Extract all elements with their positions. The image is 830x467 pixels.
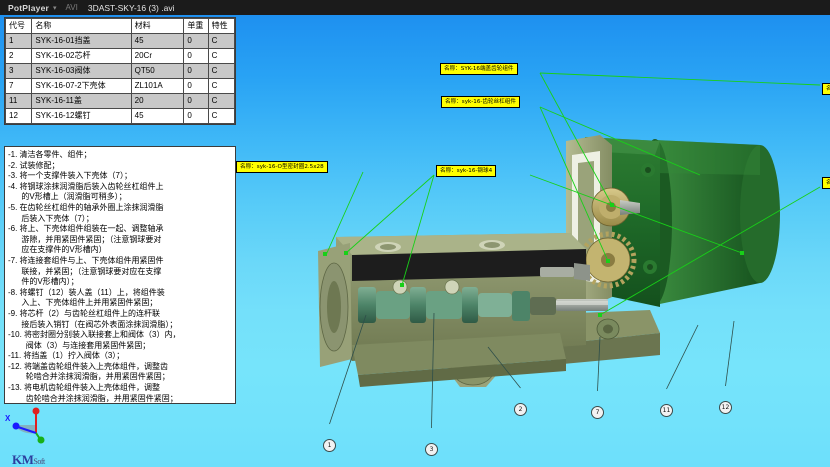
instruction-line: -4. 将钢球涂抹润滑脂后装入齿轮丝杠组件上 <box>8 182 231 193</box>
leader-arrow-heads <box>323 203 744 317</box>
parts-table: 代号 名称 材料 单重 特性 1 SYK-16-01挡盖 45 0 C <box>4 17 236 125</box>
assembly-instructions: -1. 清洁各零件、组件；-2. 试装修配；-3. 将一个支撑件装入下壳体（7）… <box>4 146 236 404</box>
col-header-code: 代号 <box>6 19 32 34</box>
cell-name: SYK-16-11盖 <box>32 94 131 109</box>
axis-label-x: X <box>5 414 10 423</box>
cell-code: 12 <box>6 109 32 124</box>
instruction-line: -7. 将连接套组件与上、下壳体组件用紧固件 <box>8 256 231 267</box>
col-header-name: 名称 <box>32 19 131 34</box>
balloon-3: 3 <box>425 443 438 456</box>
cell-char: C <box>208 34 234 49</box>
instruction-line: 的V形槽上（润滑脂可稍多）； <box>8 192 231 203</box>
lower-bracket <box>352 333 566 387</box>
table-row: 7 SYK-16-07-2下壳体 ZL101A 0 C <box>6 79 235 94</box>
km-soft-logo: KMSoft <box>12 452 45 467</box>
cell-code: 11 <box>6 94 32 109</box>
instruction-line: -12. 将端盖齿轮组件装入上壳体组件，调整齿 <box>8 362 231 373</box>
label-ball: 名称：syk-16-钢球4 <box>436 165 496 177</box>
instruction-line: 应在支撑件的V形槽内） <box>8 245 231 256</box>
cell-material: QT50 <box>131 64 184 79</box>
app-name-label: PotPlayer <box>0 3 49 13</box>
potplayer-window: PotPlayer ▾ AVI 3DAST-SKY-16 (3) .avi <box>0 0 830 467</box>
axis-triad-icon <box>13 408 45 444</box>
cad-model-group <box>318 135 780 387</box>
title-bar: PotPlayer ▾ AVI 3DAST-SKY-16 (3) .avi <box>0 0 830 15</box>
instruction-line: 件的V形槽内）； <box>8 277 231 288</box>
instruction-line: -9. 将芯杆（2）与齿轮丝杠组件上的连杆联 <box>8 309 231 320</box>
instruction-line: 接后装入销钉（在阀芯外表面涂抹润滑脂）； <box>8 320 231 331</box>
chevron-down-icon[interactable]: ▾ <box>49 4 57 12</box>
table-header-row: 代号 名称 材料 单重 特性 <box>6 19 235 34</box>
cell-material: 45 <box>131 34 184 49</box>
balloon-7: 7 <box>591 406 604 419</box>
cell-material: 45 <box>131 109 184 124</box>
label-edge-top: 名 <box>822 83 830 95</box>
col-header-material: 材料 <box>131 19 184 34</box>
cell-weight: 0 <box>184 109 208 124</box>
instruction-line: 阀体（3）与连接套用紧固件紧固； <box>8 341 231 352</box>
instruction-line: -8. 将螺钉（12）装人盖（11）上，将组件装 <box>8 288 231 299</box>
cell-name: SYK-16-01挡盖 <box>32 34 131 49</box>
table-row: 3 SYK-16-03阀体 QT50 0 C <box>6 64 235 79</box>
cell-name: SYK-16-03阀体 <box>32 64 131 79</box>
logo-suffix: Soft <box>33 457 44 466</box>
label-screw: 名称：syk-16-齿轮丝杠组件 <box>441 96 520 108</box>
balloon-leader-lines <box>330 313 735 428</box>
balloon-2: 2 <box>514 403 527 416</box>
cell-char: C <box>208 64 234 79</box>
lower-body-right <box>530 310 660 365</box>
cell-char: C <box>208 94 234 109</box>
cell-material: 20 <box>131 94 184 109</box>
label-o-ring: 名称：syk-16-O型密封圈2.5x28 <box>236 161 328 173</box>
instruction-line: -5. 在齿轮丝杠组件的轴承外圈上涂抹润滑脂 <box>8 203 231 214</box>
logo-mark: KM <box>12 452 33 467</box>
col-header-weight: 单重 <box>184 19 208 34</box>
output-rod <box>540 263 608 311</box>
instruction-line: 后装入下壳体（7）； <box>8 214 231 225</box>
valve-body <box>448 349 500 387</box>
instruction-line: -6. 将上、下壳体组件组装在一起、调整轴承 <box>8 224 231 235</box>
instruction-line: 游隙，并用紧固件紧固；（注意钢球要对 <box>8 235 231 246</box>
cell-code: 1 <box>6 34 32 49</box>
upper-housing <box>566 135 612 307</box>
cell-char: C <box>208 49 234 64</box>
video-viewport[interactable]: Z X KMSoft 代号 名称 材料 单重 特性 <box>0 15 830 467</box>
instruction-line: -11. 将挡盖（1）拧入阀体（3）； <box>8 351 231 362</box>
cell-weight: 0 <box>184 49 208 64</box>
col-header-char: 特性 <box>208 19 234 34</box>
instruction-line: -1. 清洁各零件、组件； <box>8 150 231 161</box>
gear-train <box>582 188 640 286</box>
cell-material: ZL101A <box>131 79 184 94</box>
cell-name: SYK-16-12螺钉 <box>32 109 131 124</box>
cell-name: SYK-16-02芯杆 <box>32 49 131 64</box>
label-end-gear: 名称：SYK-16端盖齿轮组件 <box>440 63 518 75</box>
cell-code: 2 <box>6 49 32 64</box>
cell-weight: 0 <box>184 94 208 109</box>
instruction-line: -2. 试装修配； <box>8 161 231 172</box>
instruction-line: -3. 将一个支撑件装入下壳体（7）； <box>8 171 231 182</box>
label-edge-mid: 名 <box>822 177 830 189</box>
balloon-12: 12 <box>719 401 732 414</box>
table-row: 1 SYK-16-01挡盖 45 0 C <box>6 34 235 49</box>
instruction-line: 轮啮合并涂抹润滑脂，并用紧固件紧固； <box>8 372 231 383</box>
motor-body <box>638 139 780 305</box>
instruction-line: 齿轮啮合并涂抹润滑脂，并用紧固件紧固； <box>8 394 231 404</box>
balloon-11: 11 <box>660 404 673 417</box>
format-label: AVI <box>57 3 78 12</box>
filename-label: 3DAST-SKY-16 (3) .avi <box>78 3 175 13</box>
left-flange <box>318 243 352 367</box>
table-row: 11 SYK-16-11盖 20 0 C <box>6 94 235 109</box>
balloon-1: 1 <box>323 439 336 452</box>
instruction-line: 联接，并紧固；（注意钢球要对应在支撑 <box>8 267 231 278</box>
instruction-line: 入上、下壳体组件上并用紧固件紧固； <box>8 298 231 309</box>
cell-weight: 0 <box>184 79 208 94</box>
table-row: 2 SYK-16-02芯杆 20Cr 0 C <box>6 49 235 64</box>
cell-char: C <box>208 79 234 94</box>
instruction-line: -13. 将电机齿轮组件装入上壳体组件，调整 <box>8 383 231 394</box>
table-row: 12 SYK-16-12螺钉 45 0 C <box>6 109 235 124</box>
instruction-line: -10. 将密封圈分别装入联接套上和阀体（3）内， <box>8 330 231 341</box>
cell-weight: 0 <box>184 34 208 49</box>
lead-screw-assembly <box>358 280 556 323</box>
cell-code: 3 <box>6 64 32 79</box>
main-housing <box>336 233 586 361</box>
leader-lines <box>326 73 820 315</box>
motor-mount <box>585 137 660 307</box>
cell-material: 20Cr <box>131 49 184 64</box>
cell-weight: 0 <box>184 64 208 79</box>
cell-name: SYK-16-07-2下壳体 <box>32 79 131 94</box>
cell-code: 7 <box>6 79 32 94</box>
cell-char: C <box>208 109 234 124</box>
